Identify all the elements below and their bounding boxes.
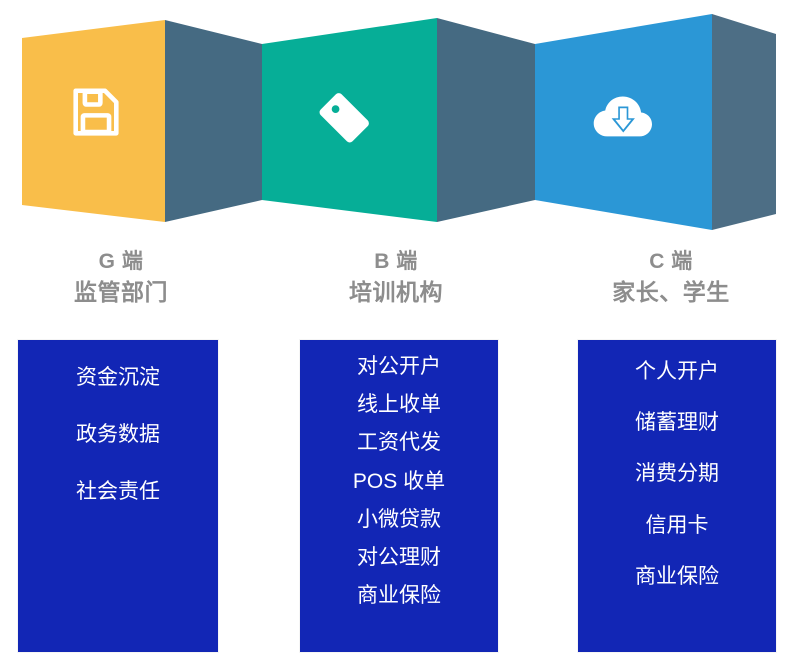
service-list-box-b: 对公开户 线上收单 工资代发 POS 收单 小微贷款 对公理财 商业保险 [300, 340, 498, 652]
panel-g-front-face [22, 20, 165, 222]
service-list-box-g: 资金沉淀 政务数据 社会责任 [18, 340, 218, 652]
infographic-canvas: G 端 监管部门 B 端 培训机构 C 端 家长、学生 资金沉淀 政务数据 社会… [0, 0, 792, 668]
list-item: 工资代发 [357, 430, 441, 455]
panel-b-front-face [262, 18, 437, 222]
column-heading-g: G 端 监管部门 [10, 248, 232, 309]
panel-c-front-face [535, 14, 712, 230]
panel-g-side-face [165, 20, 262, 222]
list-item: 个人开户 [635, 359, 719, 384]
panel-band [0, 0, 792, 240]
list-item: 消费分期 [635, 461, 719, 486]
list-item: 线上收单 [357, 392, 441, 417]
list-item: 商业保险 [357, 583, 441, 608]
list-item: 商业保险 [635, 564, 719, 589]
column-heading-g-line2: 监管部门 [10, 277, 232, 309]
list-item: 政务数据 [76, 422, 160, 447]
column-heading-c-line1: C 端 [560, 248, 782, 277]
column-heading-c-line2: 家长、学生 [560, 277, 782, 309]
list-item: 储蓄理财 [635, 410, 719, 435]
column-heading-b-line2: 培训机构 [285, 277, 507, 309]
column-heading-g-line1: G 端 [10, 248, 232, 277]
column-heading-b: B 端 培训机构 [285, 248, 507, 309]
column-heading-b-line1: B 端 [285, 248, 507, 277]
list-item: 对公开户 [357, 354, 441, 379]
column-heading-c: C 端 家长、学生 [560, 248, 782, 309]
panel-c-side-face [712, 14, 776, 230]
list-item: 资金沉淀 [76, 365, 160, 390]
list-item: 对公理财 [357, 545, 441, 570]
list-item: 信用卡 [646, 513, 709, 538]
panel-b-side-face [437, 18, 535, 222]
list-item: POS 收单 [353, 469, 445, 494]
column-headings: G 端 监管部门 B 端 培训机构 C 端 家长、学生 [0, 248, 792, 332]
list-item: 小微贷款 [357, 507, 441, 532]
service-list-box-c: 个人开户 储蓄理财 消费分期 信用卡 商业保险 [578, 340, 776, 652]
list-item: 社会责任 [76, 479, 160, 504]
